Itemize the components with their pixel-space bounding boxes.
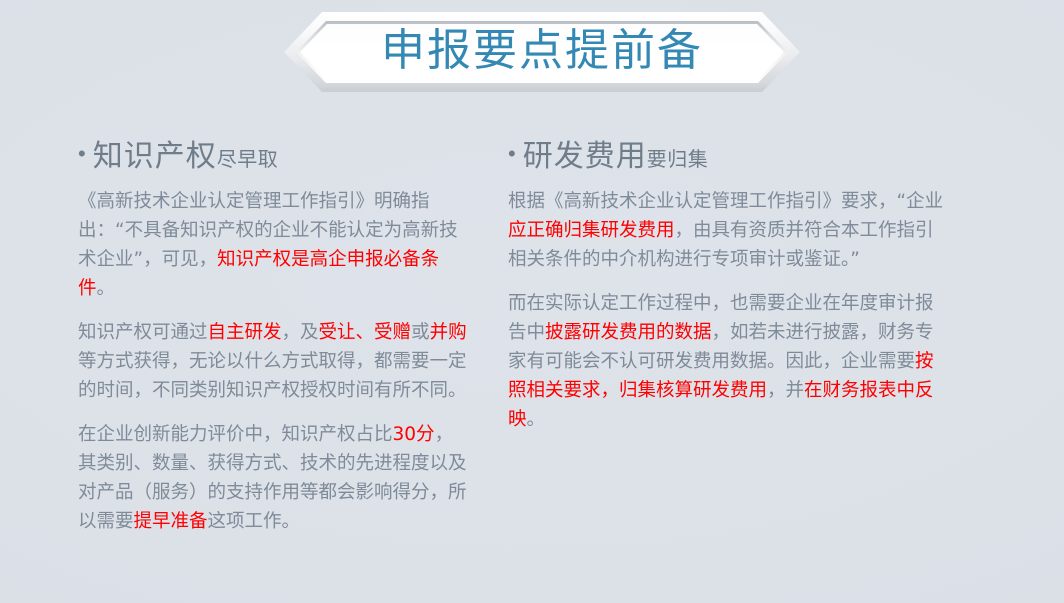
highlighted-text: 提早准备 <box>134 511 208 532</box>
column-heading-main: 知识产权 <box>93 140 217 173</box>
page-title: 申报要点提前备 <box>284 12 800 92</box>
body-text: 在企业创新能力评价中，知识产权占比 <box>78 424 393 445</box>
body-paragraph: 而在实际认定工作过程中，也需要企业在年度审计报告中披露研发费用的数据，如若未进行… <box>508 289 946 434</box>
column-paragraphs: 《高新技术企业认定管理工作指引》明确指出：“不具备知识产权的企业不能认定为高新技… <box>78 187 468 536</box>
column-paragraphs: 根据《高新技术企业认定管理工作指引》要求，“企业应正确归集研发费用，由具有资质并… <box>508 187 946 434</box>
bullet-icon: • <box>78 143 86 165</box>
column-heading: • 知识产权 尽早取 <box>78 140 468 173</box>
body-paragraph: 知识产权可通过自主研发，及受让、受赠或并购等方式获得，无论以什么方式取得，都需要… <box>78 318 468 405</box>
body-text: ，及 <box>282 322 319 343</box>
column-heading-sub: 要归集 <box>647 148 709 170</box>
highlighted-text: 受让、受赠 <box>319 322 412 343</box>
body-paragraph: 在企业创新能力评价中，知识产权占比30分，其类别、数量、获得方式、技术的先进程度… <box>78 420 468 536</box>
body-text: ，并 <box>767 380 804 401</box>
column-heading: • 研发费用 要归集 <box>508 140 946 173</box>
highlighted-text: 应正确归集研发费用 <box>508 220 675 241</box>
highlighted-text: 自主研发 <box>208 322 282 343</box>
title-banner: 申报要点提前备 <box>284 12 800 92</box>
column-rnd-expense: • 研发费用 要归集 根据《高新技术企业认定管理工作指引》要求，“企业应正确归集… <box>478 140 956 551</box>
body-text: 知识产权可通过 <box>78 322 208 343</box>
body-text: 等方式获得，无论以什么方式取得，都需要一定的时间，不同类别知识产权授权时间有所不… <box>78 351 467 401</box>
content-columns: • 知识产权 尽早取 《高新技术企业认定管理工作指引》明确指出：“不具备知识产权… <box>0 140 1064 551</box>
column-heading-sub: 尽早取 <box>217 148 279 170</box>
column-intellectual-property: • 知识产权 尽早取 《高新技术企业认定管理工作指引》明确指出：“不具备知识产权… <box>0 140 478 551</box>
body-text: 或 <box>411 322 430 343</box>
bullet-icon: • <box>508 143 516 165</box>
column-heading-main: 研发费用 <box>523 140 647 173</box>
body-text: 这项工作。 <box>208 511 301 532</box>
body-text: 。 <box>527 409 546 430</box>
body-text: 根据《高新技术企业认定管理工作指引》要求，“企业 <box>508 191 943 212</box>
slide-canvas: 申报要点提前备 • 知识产权 尽早取 《高新技术企业认定管理工作指引》明确指出：… <box>0 0 1064 603</box>
highlighted-text: 披露研发费用的数据 <box>545 322 712 343</box>
body-paragraph: 根据《高新技术企业认定管理工作指引》要求，“企业应正确归集研发费用，由具有资质并… <box>508 187 946 274</box>
highlighted-text: 并购 <box>430 322 467 343</box>
body-paragraph: 《高新技术企业认定管理工作指引》明确指出：“不具备知识产权的企业不能认定为高新技… <box>78 187 468 303</box>
body-text: 。 <box>97 278 116 299</box>
highlighted-text: 30分 <box>393 424 435 445</box>
